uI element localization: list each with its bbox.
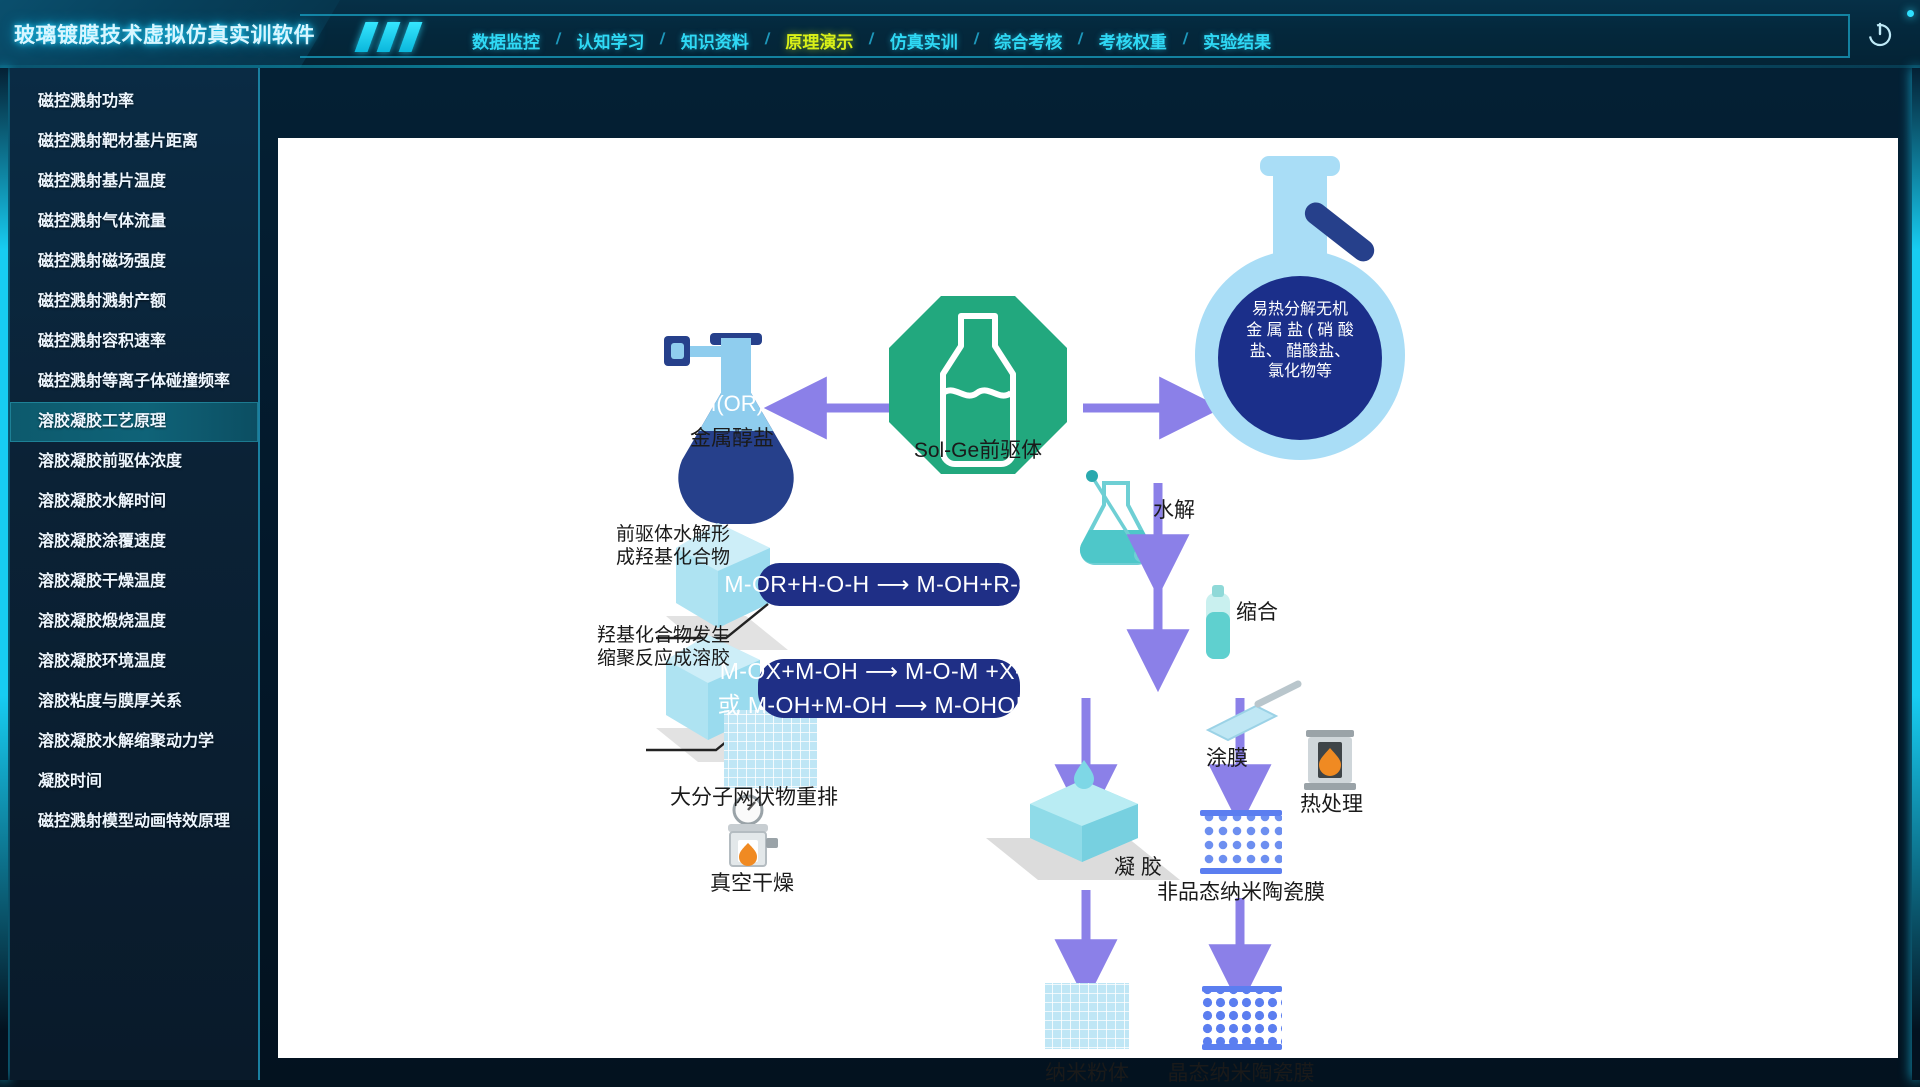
nav-separator: / xyxy=(868,31,875,49)
nav-separator: / xyxy=(659,31,666,49)
nav-separator: / xyxy=(973,31,980,49)
nano-powder-icon xyxy=(1045,983,1129,1049)
condensation-bottle-icon xyxy=(1206,585,1230,659)
sidebar-item-6[interactable]: 磁控溅射容积速率 xyxy=(10,322,258,362)
sidebar-item-1[interactable]: 磁控溅射靶材基片距离 xyxy=(10,122,258,162)
sidebar-item-2[interactable]: 磁控溅射基片温度 xyxy=(10,162,258,202)
sidebar-item-7[interactable]: 磁控溅射等离子体碰撞频率 xyxy=(10,362,258,402)
nav-item-0[interactable]: 数据监控 xyxy=(470,28,542,53)
app-title: 玻璃镀膜技术虚拟仿真实训软件 xyxy=(14,19,344,49)
crystalline-film-icon xyxy=(1202,986,1282,1050)
salt-line: 氯化物等 xyxy=(1220,362,1380,383)
nav-separator: / xyxy=(1181,31,1188,49)
reaction-line: 或 M-OH+M-OH ⟶ M-OHOH-M xyxy=(718,689,1061,722)
nav-item-3[interactable]: 原理演示 xyxy=(783,28,855,53)
nav-item-5[interactable]: 综合考核 xyxy=(992,28,1064,53)
status-dot xyxy=(1907,10,1914,17)
nav-item-2[interactable]: 知识资料 xyxy=(679,28,751,53)
reaction-box-hydrolysis: M-OR+H-O-H ⟶ M-OH+R-OH xyxy=(758,563,1020,606)
inorganic-salt-text: 易热分解无机 金 属 盐 ( 硝 酸 盐、 醋酸盐、 氯化物等 xyxy=(1220,300,1380,383)
label-hydrolysis: 水解 xyxy=(1153,498,1195,524)
note-hydrolysis: 前驱体水解形 成羟基化合物 xyxy=(570,523,730,569)
nav-item-6[interactable]: 考核权重 xyxy=(1097,28,1169,53)
sidebar-item-4[interactable]: 磁控溅射磁场强度 xyxy=(10,242,258,282)
amorphous-film-icon xyxy=(1200,810,1282,874)
label-gel: 凝 胶 xyxy=(1114,855,1162,881)
sidebar-item-0[interactable]: 磁控溅射功率 xyxy=(10,82,258,122)
note-line: 缩聚反应成溶胶 xyxy=(550,647,730,670)
label-condensation: 缩合 xyxy=(1236,600,1278,626)
label-vacuum-dry: 真空干燥 xyxy=(710,871,794,897)
heat-treatment-icon xyxy=(1304,730,1356,790)
nav-separator: / xyxy=(1077,31,1084,49)
note-line: 羟基化合物发生 xyxy=(550,624,730,647)
label-macromolecule: 大分子网状物重排 xyxy=(670,785,838,811)
principle-diagram-canvas: M-OR+H-O-H ⟶ M-OH+R-OH M-OX+M-OH ⟶ M-O-M… xyxy=(278,138,1898,1058)
sidebar-item-8[interactable]: 溶胶凝胶工艺原理 xyxy=(10,402,258,442)
nav-item-4[interactable]: 仿真实训 xyxy=(888,28,960,53)
main-nav: 数据监控/认知学习/知识资料/原理演示/仿真实训/综合考核/考核权重/实验结果 xyxy=(470,27,1273,53)
sidebar-item-12[interactable]: 溶胶凝胶干燥温度 xyxy=(10,562,258,602)
sidebar: 磁控溅射功率磁控溅射靶材基片距离磁控溅射基片温度磁控溅射气体流量磁控溅射磁场强度… xyxy=(10,68,260,1080)
sidebar-item-10[interactable]: 溶胶凝胶水解时间 xyxy=(10,482,258,522)
sol-gel-process-diagram xyxy=(278,138,1898,1058)
salt-line: 金 属 盐 ( 硝 酸 xyxy=(1220,321,1380,342)
sidebar-item-11[interactable]: 溶胶凝胶涂覆速度 xyxy=(10,522,258,562)
reaction-line: M-OX+M-OH ⟶ M-O-M +X-OH xyxy=(720,655,1059,688)
logo-slash-icon xyxy=(360,22,442,52)
reaction-line: M-OR+H-O-H ⟶ M-OH+R-OH xyxy=(724,568,1053,601)
label-nano-powder: 纳米粉体 xyxy=(1020,1061,1154,1087)
label-heat-treatment: 热处理 xyxy=(1300,792,1363,818)
sidebar-item-13[interactable]: 溶胶凝胶煅烧温度 xyxy=(10,602,258,642)
sidebar-item-18[interactable]: 磁控溅射模型动画特效原理 xyxy=(10,802,258,842)
nav-separator: / xyxy=(555,31,562,49)
sidebar-item-17[interactable]: 凝胶时间 xyxy=(10,762,258,802)
sidebar-item-16[interactable]: 溶胶凝胶水解缩聚动力学 xyxy=(10,722,258,762)
nav-separator: / xyxy=(764,31,771,49)
sidebar-item-9[interactable]: 溶胶凝胶前驱体浓度 xyxy=(10,442,258,482)
coating-icon xyxy=(1208,684,1298,740)
note-line: 前驱体水解形 xyxy=(570,523,730,546)
power-icon[interactable] xyxy=(1866,20,1894,48)
label-amorphous-film: 非品态纳米陶瓷膜 xyxy=(1148,880,1334,906)
caption-metal-alkoxide: 金属醇盐 xyxy=(668,426,796,452)
sidebar-item-5[interactable]: 磁控溅射溅射产额 xyxy=(10,282,258,322)
salt-line: 盐、 醋酸盐、 xyxy=(1220,342,1380,363)
nav-item-7[interactable]: 实验结果 xyxy=(1201,28,1273,53)
note-line: 成羟基化合物 xyxy=(570,546,730,569)
app-header: 玻璃镀膜技术虚拟仿真实训软件 数据监控/认知学习/知识资料/原理演示/仿真实训/… xyxy=(0,0,1920,68)
sidebar-item-15[interactable]: 溶胶粘度与膜厚关系 xyxy=(10,682,258,722)
note-condensation: 羟基化合物发生 缩聚反应成溶胶 xyxy=(550,624,730,670)
nav-item-1[interactable]: 认知学习 xyxy=(574,28,646,53)
salt-line: 易热分解无机 xyxy=(1220,300,1380,321)
label-crystalline-film: 晶态纳米陶瓷膜 xyxy=(1150,1061,1332,1087)
sidebar-item-14[interactable]: 溶胶凝胶环境温度 xyxy=(10,642,258,682)
flask-label-mor: M(OR) xyxy=(686,391,776,417)
sidebar-item-3[interactable]: 磁控溅射气体流量 xyxy=(10,202,258,242)
label-coating: 涂膜 xyxy=(1206,746,1248,772)
reaction-box-condensation: M-OX+M-OH ⟶ M-O-M +X-OH 或 M-OH+M-OH ⟶ M-… xyxy=(758,659,1020,718)
caption-sol-gel-precursor: Sol-Ge前驱体 xyxy=(890,438,1066,464)
hydrolysis-flask-icon xyxy=(1080,470,1152,563)
